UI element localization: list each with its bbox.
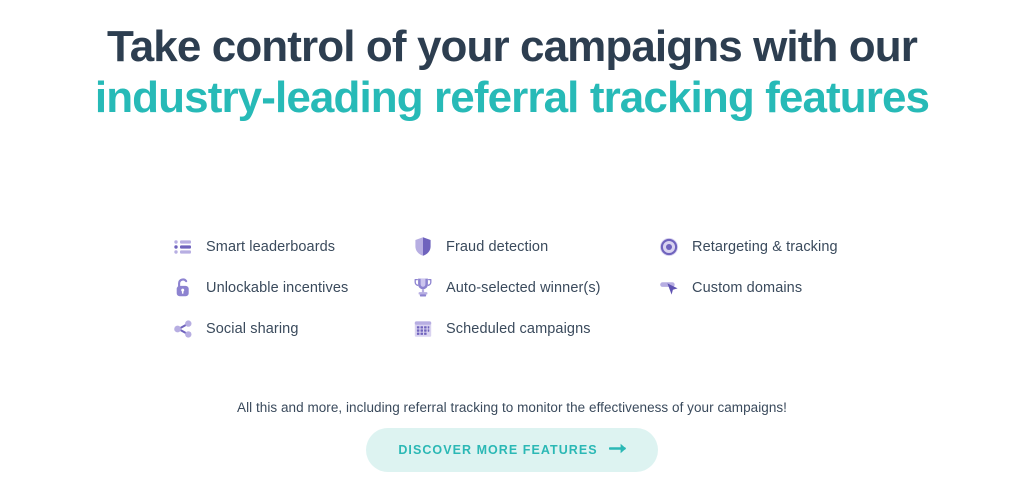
shield-icon: [412, 236, 434, 258]
feature-item-social-sharing: Social sharing: [172, 308, 412, 349]
share-icon: [172, 318, 194, 340]
feature-label: Fraud detection: [446, 238, 548, 256]
feature-item-scheduled-campaigns: Scheduled campaigns: [412, 308, 658, 349]
feature-item-fraud-detection: Fraud detection: [412, 226, 658, 267]
page-title-accent: industry-leading referral tracking featu…: [95, 73, 929, 122]
trophy-icon: [412, 277, 434, 299]
cursor-icon: [658, 277, 680, 299]
page-title-lead: Take control of your campaigns with our: [107, 22, 917, 71]
feature-label: Smart leaderboards: [206, 238, 335, 256]
feature-label: Auto-selected winner(s): [446, 279, 601, 297]
feature-item-unlockable-incentives: Unlockable incentives: [172, 267, 412, 308]
feature-item-smart-leaderboards: Smart leaderboards: [172, 226, 412, 267]
feature-item-retargeting-tracking: Retargeting & tracking: [658, 226, 932, 267]
feature-label: Custom domains: [692, 279, 802, 297]
cta-label: Discover more features: [398, 443, 597, 457]
page-title: Take control of your campaigns with our …: [62, 21, 962, 123]
target-icon: [658, 236, 680, 258]
feature-item-auto-selected-winners: Auto-selected winner(s): [412, 267, 658, 308]
feature-list: Smart leaderboards Fraud detection Re: [172, 226, 932, 349]
calendar-icon: [412, 318, 434, 340]
arrow-right-icon: [609, 442, 628, 458]
feature-item-custom-domains: Custom domains: [658, 267, 932, 308]
cta-container: Discover more features: [0, 428, 1024, 472]
discover-more-features-button[interactable]: Discover more features: [366, 428, 657, 472]
unlock-icon: [172, 277, 194, 299]
list-icon: [172, 236, 194, 258]
tagline-text: All this and more, including referral tr…: [0, 399, 1024, 417]
features-section: Take control of your campaigns with our …: [0, 0, 1024, 479]
feature-label: Unlockable incentives: [206, 279, 348, 297]
feature-label: Scheduled campaigns: [446, 320, 591, 338]
feature-label: Retargeting & tracking: [692, 238, 838, 256]
feature-label: Social sharing: [206, 320, 298, 338]
